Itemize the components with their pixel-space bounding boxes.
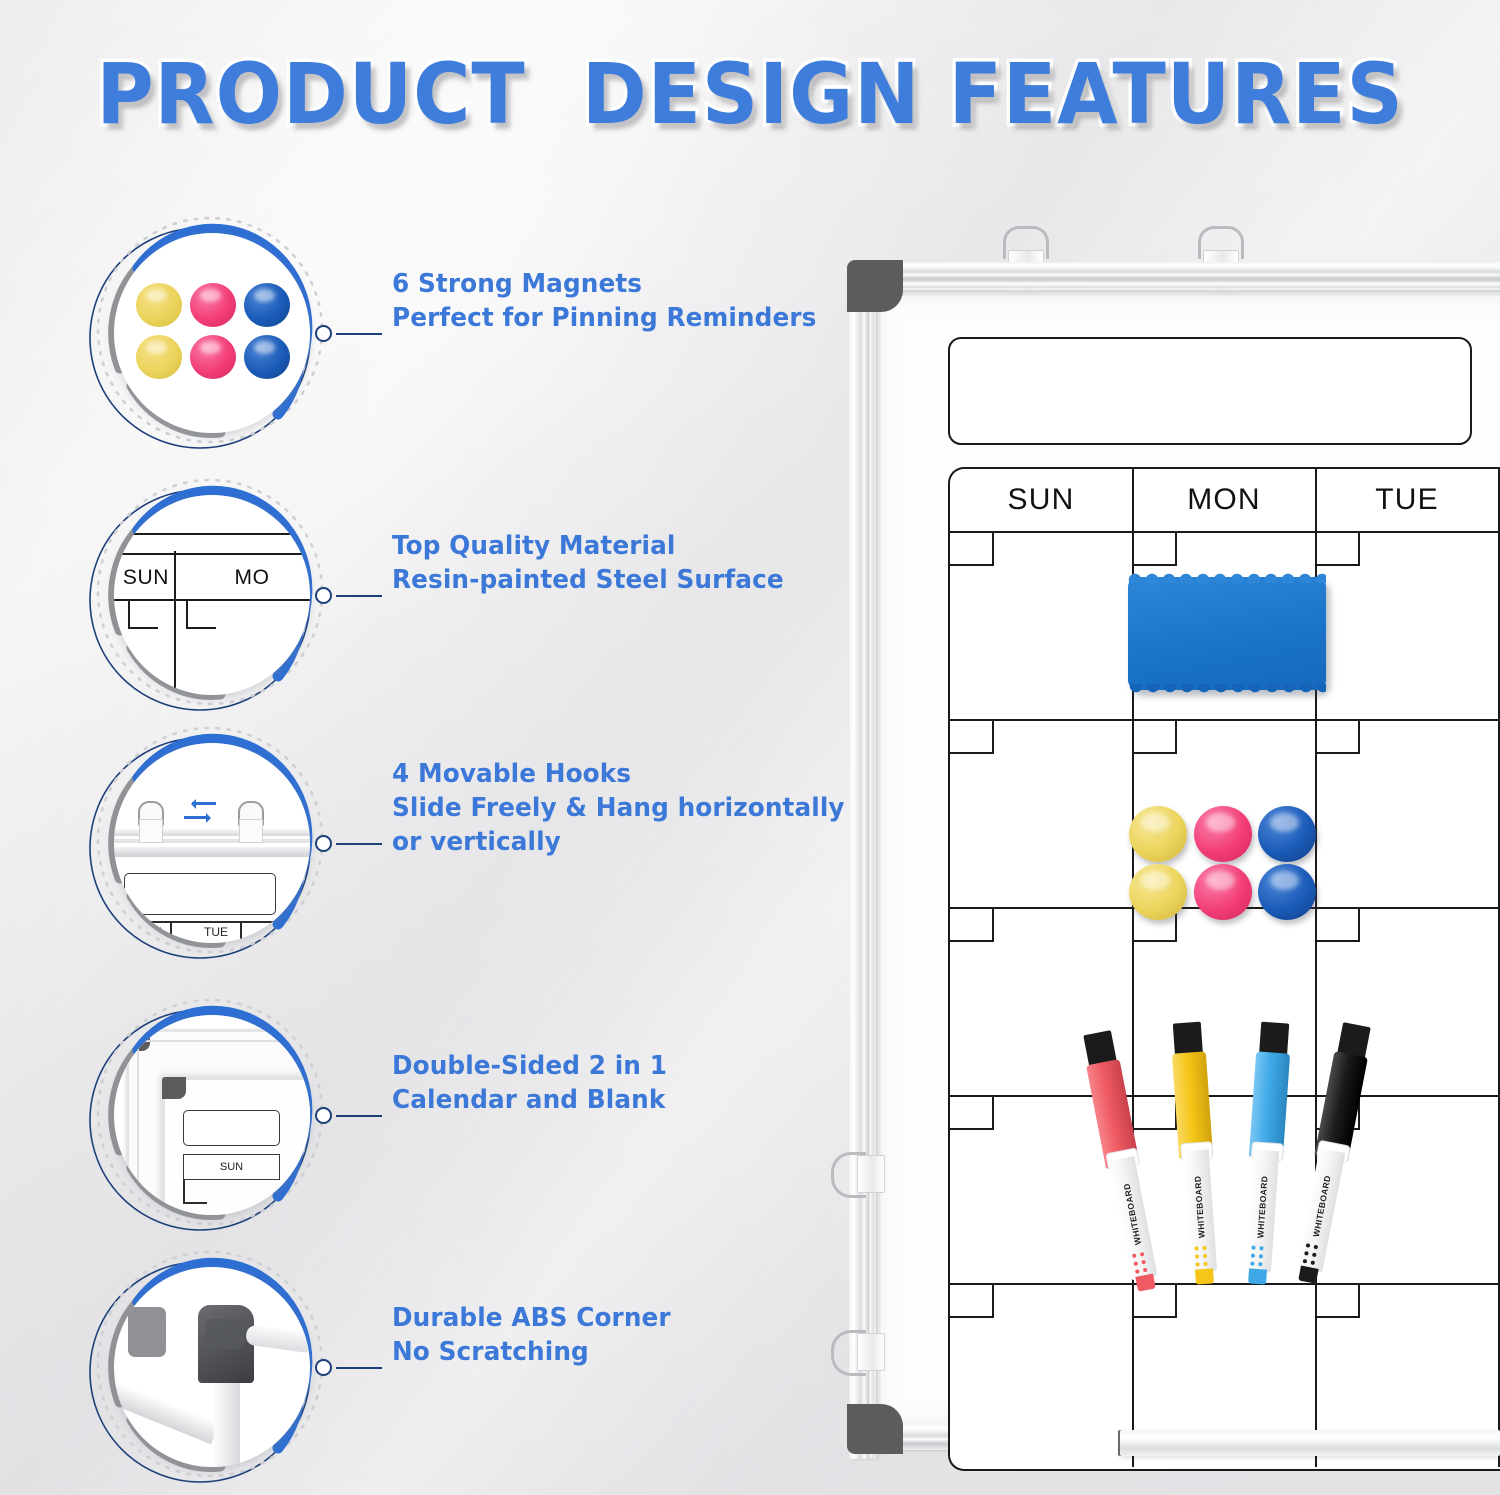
feature-line: Perfect for Pinning Reminders <box>392 302 848 336</box>
feature-icon-circle <box>92 1252 324 1484</box>
calendar-surface-photo: SUN MO <box>114 495 310 695</box>
left-arrow-icon <box>186 799 216 807</box>
marker-label: WHITEBOARD <box>1248 1171 1277 1243</box>
date-cell[interactable] <box>1316 1283 1360 1318</box>
board-magnet-blue[interactable] <box>1258 864 1316 920</box>
date-cell[interactable] <box>950 907 994 942</box>
feature-icon-circle: SUN <box>92 1000 324 1232</box>
marker-nib <box>1248 1268 1267 1284</box>
day-label: MO <box>226 561 278 595</box>
grid-line <box>240 921 242 943</box>
marker-label: WHITEBOARD <box>1185 1171 1214 1243</box>
connector-dot <box>315 835 332 852</box>
abs-corner <box>162 1077 186 1099</box>
connector-dot <box>315 587 332 604</box>
board-magnet-blue[interactable] <box>1258 806 1316 862</box>
hook-body <box>239 819 263 843</box>
connector-line <box>336 843 382 845</box>
feature-text: 4 Movable Hooks Slide Freely & Hang hori… <box>392 758 848 860</box>
connector-line <box>336 595 382 597</box>
feature-icon-circle <box>92 218 324 450</box>
magnet-pink <box>190 283 236 327</box>
grid-line <box>114 553 310 555</box>
grid-line <box>114 599 310 601</box>
day-header-sun: SUN <box>950 469 1132 531</box>
date-cell[interactable] <box>1133 1095 1177 1130</box>
feature-abs-corner: Durable ABS Corner No Scratching <box>92 1252 852 1487</box>
board-magnet-yellow[interactable] <box>1129 806 1187 862</box>
feature-line: Resin-painted Steel Surface <box>392 564 848 598</box>
marker-nib <box>1298 1266 1319 1284</box>
date-cell[interactable] <box>950 1095 994 1130</box>
feature-text: Durable ABS Corner No Scratching <box>392 1302 848 1370</box>
magnet-blue <box>244 283 290 327</box>
handle <box>245 1324 310 1353</box>
page-title: PRODUCT DESIGN FEATURES <box>53 52 1448 136</box>
right-arrow-icon <box>184 813 216 821</box>
day-label: SUN <box>183 1154 280 1180</box>
abs-corner-photo <box>114 1267 310 1467</box>
abs-corner-top-left <box>847 260 903 312</box>
feature-text: Double-Sided 2 in 1 Calendar and Blank <box>392 1050 848 1118</box>
date-cell[interactable] <box>950 531 994 566</box>
frame-rail <box>114 847 310 857</box>
feature-text: Top Quality Material Resin-painted Steel… <box>392 530 848 598</box>
feature-line: Calendar and Blank <box>392 1084 848 1118</box>
board-magnet-pink[interactable] <box>1194 806 1252 862</box>
abs-corner-bottom-left <box>847 1404 903 1454</box>
board-magnet-yellow[interactable] <box>1129 864 1187 920</box>
two-boards-photo: SUN <box>114 1015 310 1215</box>
feature-magnets: 6 Strong Magnets Perfect for Pinning Rem… <box>92 218 852 453</box>
day-label: MON <box>126 925 170 939</box>
grid-line <box>128 627 158 629</box>
frame-top-rail-inner <box>853 282 1500 294</box>
grid-line <box>114 533 310 535</box>
hook-body <box>139 819 163 843</box>
feature-double-sided: SUN Double-Sided 2 in 1 Calendar and Bla… <box>92 1000 852 1235</box>
feature-line: Slide Freely & Hang horizontally <box>392 792 848 826</box>
connector-dot <box>315 1359 332 1376</box>
day-header-mon: MON <box>1133 469 1315 531</box>
date-cell[interactable] <box>1316 531 1360 566</box>
marker-nib <box>1195 1268 1214 1284</box>
magnet-blue <box>244 335 290 379</box>
connector-line <box>336 333 382 335</box>
frame-top-rail <box>853 262 1500 284</box>
grid-line <box>186 627 216 629</box>
hooks-photo: MON TUE <box>114 743 310 943</box>
feature-text: 6 Strong Magnets Perfect for Pinning Rem… <box>392 268 848 336</box>
feature-line: No Scratching <box>392 1336 848 1370</box>
day-label: TUE <box>194 925 238 939</box>
magnet-yellow <box>136 335 182 379</box>
connector-line <box>336 1115 382 1117</box>
date-cell[interactable] <box>1316 907 1360 942</box>
grid-line <box>114 921 310 923</box>
date-cell[interactable] <box>1133 531 1177 566</box>
date-cell[interactable] <box>950 1283 994 1318</box>
day-label: SUN <box>120 561 172 595</box>
board-front: SUN <box>162 1077 310 1215</box>
magnetic-eraser[interactable] <box>1128 577 1326 690</box>
connector-dot <box>315 325 332 342</box>
frame-left-rail-inner <box>869 274 879 1459</box>
board-magnet-pink[interactable] <box>1194 864 1252 920</box>
connector-dot <box>315 1107 332 1124</box>
title-box <box>183 1110 280 1146</box>
grid-line <box>170 921 172 943</box>
date-cell[interactable] <box>1316 719 1360 754</box>
day-header-tue: TUE <box>1316 469 1498 531</box>
feature-line: or vertically <box>392 826 848 860</box>
feature-line: 6 Strong Magnets <box>392 268 848 302</box>
feature-icon-circle: MON TUE <box>92 728 324 960</box>
grid-line <box>186 599 188 629</box>
calendar-title-box[interactable] <box>948 337 1472 445</box>
marker-tray <box>1120 1430 1500 1456</box>
magnets-photo <box>114 233 310 433</box>
title-box <box>124 873 276 915</box>
feature-material: SUN MO Top Quality Material Resin-painte… <box>92 480 852 715</box>
corner-pad <box>128 1307 166 1357</box>
feature-line: 4 Movable Hooks <box>392 758 848 792</box>
grid-line <box>128 599 130 629</box>
feature-line: Double-Sided 2 in 1 <box>392 1050 848 1084</box>
connector-line <box>336 1367 382 1369</box>
date-cell[interactable] <box>950 719 994 754</box>
magnet-yellow <box>136 283 182 327</box>
date-cell[interactable] <box>1133 719 1177 754</box>
feature-line: Top Quality Material <box>392 530 848 564</box>
magnet-pink <box>190 335 236 379</box>
feature-line: Durable ABS Corner <box>392 1302 848 1336</box>
grid-line <box>174 551 176 695</box>
feature-icon-circle: SUN MO <box>92 480 324 712</box>
feature-hooks: MON TUE 4 Movable Hooks Slide Freely & H… <box>92 728 852 963</box>
